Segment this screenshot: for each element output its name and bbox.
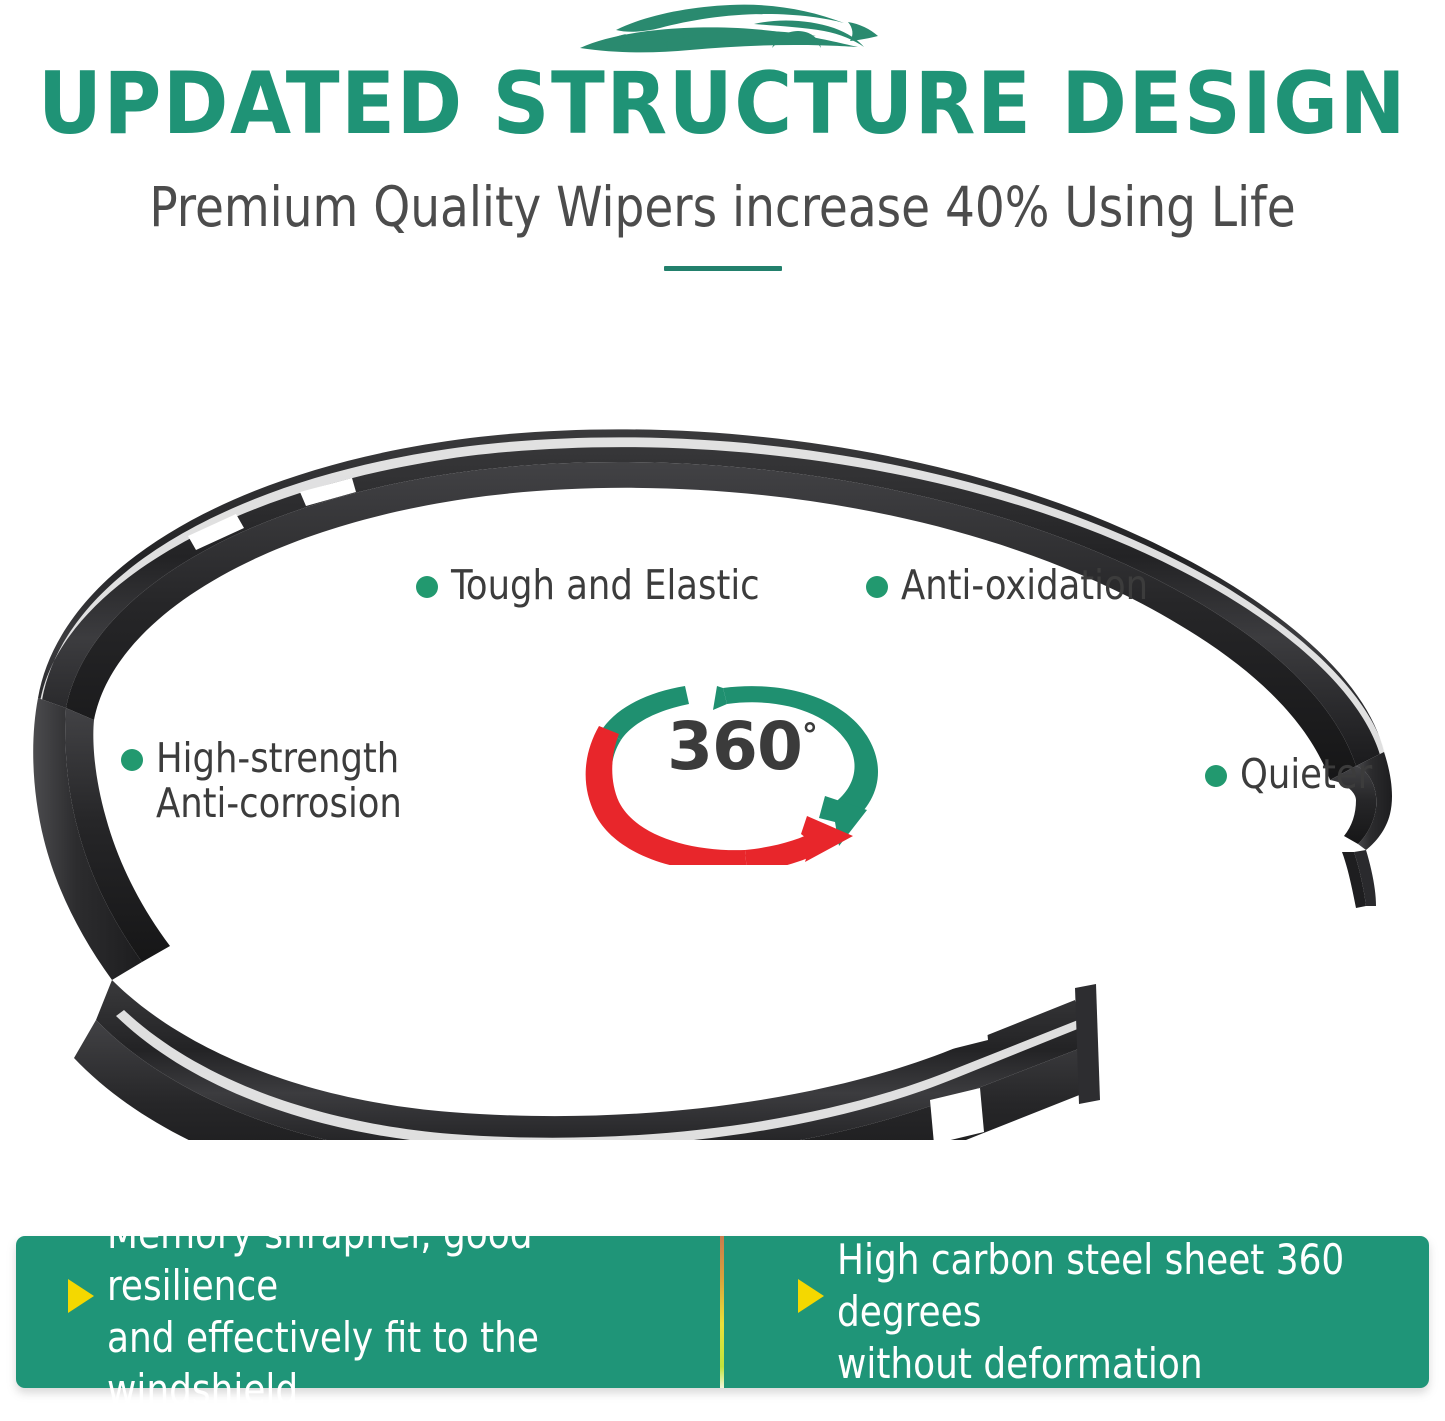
- page-title: UPDATED STRUCTURE DESIGN: [0, 56, 1445, 152]
- bullet-dot-icon: [416, 576, 438, 598]
- banner-item-high-carbon-steel: High carbon steel sheet 360 degrees with…: [724, 1236, 1429, 1388]
- banner-item-text: Memory shrapnel, good resilience and eff…: [107, 1208, 673, 1416]
- banner-item-text: High carbon steel sheet 360 degrees with…: [837, 1234, 1382, 1390]
- bullet-dot-icon: [121, 749, 143, 771]
- title-divider-rule: [664, 266, 782, 271]
- feature-label-anti-oxidation: Anti-oxidation: [866, 563, 1158, 608]
- feature-label-text: Quieter: [1240, 752, 1372, 797]
- feature-label-quieter: Quieter: [1205, 752, 1378, 797]
- play-triangle-icon: [68, 1279, 94, 1313]
- product-feature-infographic: UPDATED STRUCTURE DESIGN Premium Quality…: [0, 0, 1445, 1421]
- 360-value: 360: [667, 708, 802, 785]
- play-triangle-icon: [798, 1279, 824, 1313]
- feature-label-high-strength-anti-corrosion: High-strength Anti-corrosion: [121, 736, 412, 826]
- 360-badge-text: 360°: [567, 712, 917, 782]
- page-subtitle: Premium Quality Wipers increase 40% Usin…: [36, 176, 1409, 238]
- feature-label-text: Anti-oxidation: [901, 563, 1148, 608]
- banner-item-memory-shrapnel: Memory shrapnel, good resilience and eff…: [16, 1236, 720, 1388]
- feature-label-text: Tough and Elastic: [451, 563, 760, 608]
- bottom-feature-banner: Memory shrapnel, good resilience and eff…: [16, 1236, 1429, 1388]
- 360-degree-badge: 360°: [567, 650, 917, 865]
- feature-label-text: High-strength Anti-corrosion: [156, 736, 402, 826]
- feature-label-tough-and-elastic: Tough and Elastic: [416, 563, 773, 608]
- degree-symbol: °: [802, 716, 817, 754]
- car-silhouette-icon: [558, 2, 888, 58]
- bullet-dot-icon: [866, 576, 888, 598]
- bullet-dot-icon: [1205, 765, 1227, 787]
